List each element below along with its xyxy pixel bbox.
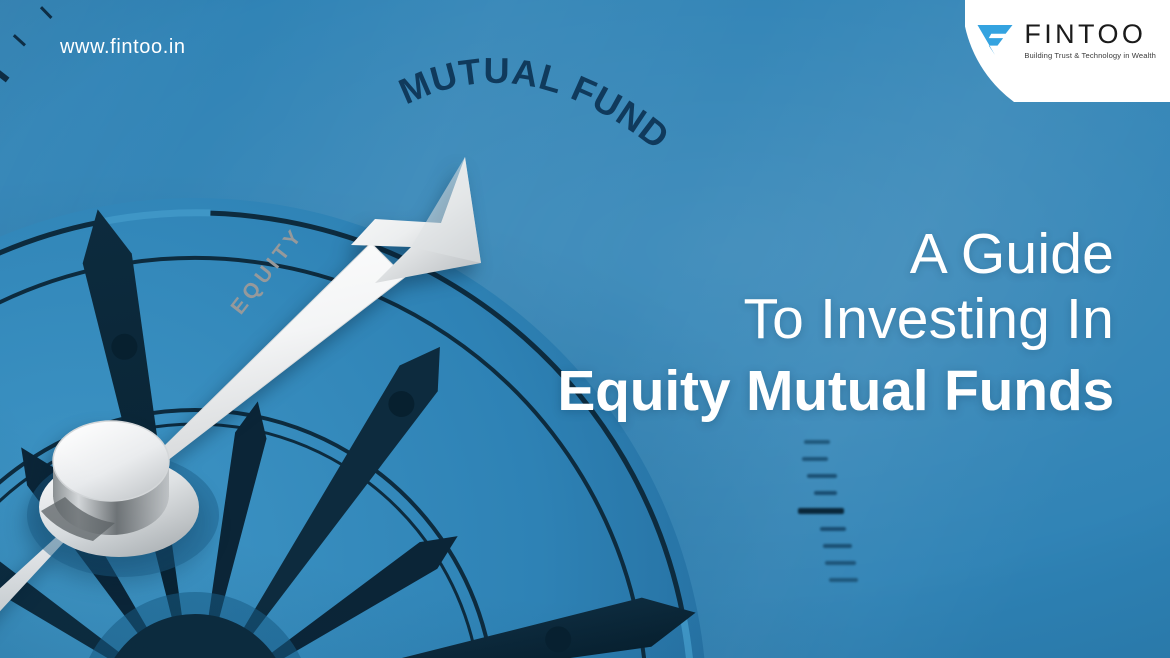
compass-needle [0,115,625,658]
headline-line-2: To Investing In [557,287,1114,352]
compass-dial-label: MUTUAL FUND [395,52,695,182]
secondary-tick-marks [798,440,918,610]
headline-line-1: A Guide [557,222,1114,287]
site-url[interactable]: www.fintoo.in [60,36,186,59]
page-title: A Guide To Investing In Equity Mutual Fu… [557,222,1114,424]
logo-tagline: Building Trust & Technology in Wealth [1024,52,1156,60]
banner-canvas: MUTUAL FUND [0,0,1170,658]
brand-logo-badge[interactable]: FINTOO Building Trust & Technology in We… [965,0,1170,102]
mutual-fund-text: MUTUAL FUND [393,50,678,158]
logo-content: FINTOO Building Trust & Technology in We… [975,20,1156,60]
fintoo-f-triangle-icon [975,20,1015,60]
logo-wordmark: FINTOO Building Trust & Technology in We… [1024,21,1156,60]
logo-name: FINTOO [1024,21,1156,48]
logo-badge-disc [965,0,1170,102]
headline-line-3: Equity Mutual Funds [557,359,1114,424]
needle-label: EQUITY [227,223,310,319]
